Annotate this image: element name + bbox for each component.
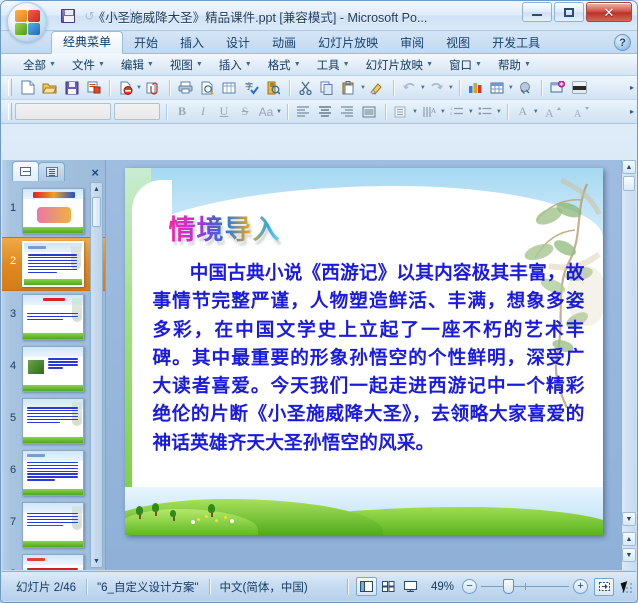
chevron-down-icon[interactable]: ▼ (508, 85, 514, 91)
bulleted-list-button[interactable] (475, 102, 496, 122)
slide-number: 2 (4, 241, 22, 267)
zoom-in-button[interactable]: + (573, 579, 588, 594)
permission-button[interactable] (115, 78, 136, 98)
close-panel-icon[interactable]: × (91, 166, 99, 179)
ribbon-tab-strip: 经典菜单 开始 插入 设计 动画 幻灯片放映 审阅 视图 开发工具 ? (1, 31, 637, 54)
help-icon[interactable]: ? (614, 34, 631, 51)
view-buttons (356, 577, 421, 596)
chevron-down-icon[interactable]: ▼ (533, 109, 539, 115)
chevron-down-icon[interactable]: ▼ (448, 85, 454, 91)
menu-slideshow[interactable]: 幻灯片放映 ▼ (358, 55, 441, 75)
slide-group (545, 78, 592, 98)
panel-scrollbar[interactable]: ▲ ▼ (90, 182, 103, 568)
close-button[interactable]: ✕ (586, 2, 632, 22)
menu-all-label: 全部 (23, 57, 46, 73)
slide-number: 1 (4, 188, 22, 214)
view-normal-button[interactable] (356, 577, 377, 596)
new-slide-button[interactable] (547, 78, 568, 98)
zoom-handle[interactable] (503, 579, 514, 594)
toolbar-divider (385, 104, 386, 120)
language-indicator[interactable]: 中文(简体，中国) (210, 579, 318, 595)
slide-counter: 幻灯片 2/46 (6, 579, 86, 595)
slide-number: 6 (4, 450, 22, 476)
zoom-track[interactable] (481, 586, 569, 587)
chevron-down-icon[interactable]: ▼ (276, 109, 282, 115)
scroll-down-button[interactable]: ▼ (622, 512, 636, 526)
numbered-list-button[interactable]: 12 (447, 102, 468, 122)
chevron-down-icon[interactable]: ▼ (440, 109, 446, 115)
tab-animation[interactable]: 动画 (261, 33, 307, 54)
chevron-down-icon: ▼ (49, 61, 56, 68)
print-preview-button[interactable] (197, 78, 218, 98)
font-color-button[interactable]: A (513, 102, 533, 121)
hyperlink-button[interactable] (515, 78, 536, 98)
open-folder-button[interactable] (39, 78, 60, 98)
zoom-slider[interactable]: − + (462, 579, 588, 594)
text-shadow-button[interactable]: S (235, 102, 255, 121)
insert-chart-button[interactable] (465, 78, 486, 98)
maximize-icon (564, 8, 574, 17)
panel-tab-strip: × (2, 160, 105, 181)
chevron-down-icon: ▼ (475, 61, 482, 68)
mouse-cursor-icon (621, 581, 631, 593)
window-controls: ✕ (522, 2, 632, 22)
standard-toolbar: ▼ 字 (1, 76, 637, 100)
chevron-down-icon: ▼ (245, 61, 252, 68)
menu-view[interactable]: 视图 ▼ (162, 55, 211, 75)
toolbar-overflow-icon[interactable]: ▸ (630, 107, 634, 116)
copy-button[interactable] (317, 78, 338, 98)
send-group: ▼ (113, 78, 166, 98)
font-name-input[interactable] (15, 103, 111, 120)
align-left-button[interactable] (293, 102, 314, 122)
outline-icon (46, 167, 58, 177)
slide-number: 7 (4, 502, 22, 528)
chevron-down-icon[interactable]: ▼ (412, 109, 418, 115)
slides-thumbnail-icon (20, 167, 31, 176)
svg-text:A: A (431, 107, 436, 115)
close-icon: ✕ (604, 6, 615, 19)
powerpoint-window: ↺ ▾ ↻ ▾ 《小圣施威降大圣》精品课件.ppt [兼容模式] - Micro… (0, 0, 638, 603)
tab-design[interactable]: 设计 (215, 33, 261, 54)
slide-thumbnail[interactable] (22, 450, 84, 496)
slide-number: 4 (4, 346, 22, 372)
menu-format[interactable]: 格式 ▼ (260, 55, 309, 75)
tab-insert[interactable]: 插入 (169, 33, 215, 54)
alignment-group (291, 102, 382, 122)
underline-button[interactable]: U (214, 102, 234, 121)
paste-button[interactable] (339, 78, 360, 98)
redo-toolbar-button[interactable] (427, 78, 448, 98)
zoom-level: 49% (429, 581, 462, 593)
scroll-down-icon[interactable]: ▼ (91, 555, 102, 567)
spacing-group: ▼ A ▼ 12 ▼ ▼ (389, 102, 504, 122)
chevron-down-icon: ▼ (343, 61, 350, 68)
next-slide-button[interactable]: ▼ (622, 548, 636, 562)
svg-text:A: A (545, 106, 554, 118)
tab-home[interactable]: 开始 (123, 33, 169, 54)
change-case-button[interactable]: Aa (256, 102, 276, 121)
menu-file[interactable]: 文件 ▼ (64, 55, 113, 75)
menu-edit[interactable]: 编辑 ▼ (113, 55, 162, 75)
italic-button[interactable]: I (193, 102, 213, 121)
slide-design-button[interactable] (569, 78, 590, 98)
slide-thumbnail[interactable] (22, 554, 84, 570)
toolbar-divider (287, 104, 288, 120)
tab-developer[interactable]: 开发工具 (481, 33, 551, 54)
tab-review[interactable]: 审阅 (389, 33, 435, 54)
format-painter-button[interactable] (367, 78, 388, 98)
scroll-up-icon[interactable]: ▲ (91, 183, 102, 195)
slides-panel: × 1 2 (2, 160, 106, 570)
print-group: 字 (173, 78, 286, 98)
menu-edit-label: 编辑 (121, 57, 144, 73)
spell-check-button[interactable]: 字 (241, 78, 262, 98)
decrease-font-size-button[interactable]: A (569, 102, 597, 122)
fit-slide-button[interactable] (594, 578, 614, 596)
character-spacing-button[interactable]: A (419, 102, 440, 122)
toolbar-grip[interactable] (8, 79, 12, 96)
slide-thumbnail[interactable] (22, 346, 84, 392)
chevron-down-icon: ▼ (98, 61, 105, 68)
previous-slide-button[interactable]: ▲ (622, 532, 636, 546)
menu-insert-label: 插入 (219, 57, 242, 73)
menu-view-label: 视图 (170, 57, 193, 73)
chevron-down-icon: ▼ (426, 61, 433, 68)
chevron-down-icon: ▼ (294, 61, 301, 68)
toolbar-divider (289, 80, 290, 96)
align-right-button[interactable] (337, 102, 358, 122)
current-slide[interactable]: 情境导入 情境导入 中国古典小说《西游记》以其内容极其丰富，故事情节完整严谨，人… (125, 168, 603, 535)
vertical-scrollbar[interactable]: ▲ ▼ ▲ ▼ (621, 160, 636, 570)
tab-slideshow[interactable]: 幻灯片放映 (307, 33, 389, 54)
toolbar-divider (507, 104, 508, 120)
slide-title[interactable]: 情境导入 (169, 208, 281, 247)
file-group (15, 78, 106, 98)
toolbar-divider (166, 104, 167, 120)
increase-font-size-button[interactable]: A (540, 102, 568, 122)
undo-toolbar-button[interactable] (399, 78, 420, 98)
menu-slideshow-label: 幻灯片放映 (366, 57, 424, 73)
insert-group: ▼ (463, 78, 538, 98)
classic-menu-bar: 全部 ▼ 文件 ▼ 编辑 ▼ 视图 ▼ 插入 ▼ 格式 ▼ 工具 ▼ 幻灯片放映 (1, 54, 637, 76)
toolbar-divider (393, 80, 394, 96)
tab-view[interactable]: 视图 (435, 33, 481, 54)
slide-thumbnail[interactable] (22, 188, 84, 234)
slide-thumbnail[interactable] (22, 398, 84, 444)
chevron-down-icon[interactable]: ▼ (360, 85, 366, 91)
slide-thumbnail[interactable] (22, 241, 84, 287)
status-divider (347, 579, 348, 595)
align-center-button[interactable] (315, 102, 336, 122)
save-toolbar-button[interactable] (61, 78, 82, 98)
menu-window[interactable]: 窗口 ▼ (441, 55, 490, 75)
zoom-out-button[interactable]: − (462, 579, 477, 594)
status-bar: 幻灯片 2/46 "6_自定义设计方案" 中文(简体，中国) 49% − (2, 571, 636, 601)
research-button[interactable] (263, 78, 284, 98)
toolbar-divider (169, 80, 170, 96)
toolbar-divider (541, 80, 542, 96)
chevron-down-icon: ▼ (524, 61, 531, 68)
slide-thumbnail[interactable] (22, 502, 84, 548)
insert-table-button[interactable] (487, 78, 508, 98)
zoom-center-tick (525, 583, 526, 590)
minimize-icon (532, 14, 542, 16)
font-size-group: A ▼ A A (511, 102, 599, 122)
cut-button[interactable] (295, 78, 316, 98)
chevron-down-icon[interactable]: ▼ (496, 109, 502, 115)
slide-thumbnail[interactable] (22, 294, 84, 340)
workspace: × 1 2 (2, 160, 636, 570)
clipboard-group: ▼ (293, 78, 390, 98)
scroll-up-button[interactable]: ▲ (622, 160, 636, 174)
tab-classic-menu[interactable]: 经典菜单 (51, 31, 123, 54)
view-slideshow-button[interactable] (400, 577, 421, 596)
office-button[interactable] (7, 2, 47, 42)
tab-outline[interactable] (38, 162, 65, 181)
office-logo-icon (15, 10, 40, 35)
slide-body-text[interactable]: 中国古典小说《西游记》以其内容极其丰富，故事情节完整严谨，人物塑造鲜活、丰满，想… (153, 260, 585, 458)
menu-tools[interactable]: 工具 ▼ (309, 55, 358, 75)
menu-window-label: 窗口 (449, 57, 472, 73)
formatting-toolbar: B I U S Aa ▼ ▼ (1, 100, 637, 124)
resize-grip[interactable] (620, 581, 632, 593)
menu-help[interactable]: 帮助 ▼ (490, 55, 539, 75)
slide-number: 5 (4, 398, 22, 424)
chevron-down-icon[interactable]: ▼ (136, 85, 142, 91)
chevron-down-icon: ▼ (196, 61, 203, 68)
new-document-button[interactable] (17, 78, 38, 98)
bold-button[interactable]: B (172, 102, 192, 121)
toolbar-overflow-icon[interactable]: ▸ (630, 83, 634, 92)
menu-help-label: 帮助 (498, 57, 521, 73)
svg-text:A: A (574, 109, 582, 118)
menu-file-label: 文件 (72, 57, 95, 73)
menu-all[interactable]: 全部 ▼ (15, 55, 64, 75)
minimize-button[interactable] (522, 2, 552, 22)
table-button[interactable] (219, 78, 240, 98)
font-size-input[interactable] (114, 103, 160, 120)
maximize-button[interactable] (554, 2, 584, 22)
menu-tools-label: 工具 (317, 57, 340, 73)
font-style-group: B I U S Aa ▼ (170, 102, 284, 121)
justify-button[interactable] (359, 102, 380, 122)
print-button[interactable] (175, 78, 196, 98)
line-spacing-button[interactable] (391, 102, 412, 122)
chevron-down-icon: ▼ (147, 61, 154, 68)
svg-text:2: 2 (450, 111, 453, 116)
undo-redo-group: ▼ ▼ (397, 78, 456, 98)
menu-insert[interactable]: 插入 ▼ (211, 55, 260, 75)
toolbar-divider (109, 80, 110, 96)
chevron-down-icon[interactable]: ▼ (420, 85, 426, 91)
design-name[interactable]: "6_自定义设计方案" (87, 579, 208, 595)
slide-stage[interactable]: 情境导入 情境导入 中国古典小说《西游记》以其内容极其丰富，故事情节完整严谨，人… (106, 160, 621, 570)
attach-button[interactable] (143, 78, 164, 98)
toolbar-divider (459, 80, 460, 96)
email-button[interactable] (83, 78, 104, 98)
chevron-down-icon[interactable]: ▼ (468, 109, 474, 115)
window-title: 《小圣施威降大圣》精品课件.ppt [兼容模式] - Microsoft Po.… (1, 7, 519, 26)
title-bar: ↺ ▾ ↻ ▾ 《小圣施威降大圣》精品课件.ppt [兼容模式] - Micro… (1, 1, 637, 31)
view-slide-sorter-button[interactable] (378, 577, 399, 596)
slide-number: 3 (4, 294, 22, 320)
toolbar-grip[interactable] (8, 103, 12, 120)
menu-format-label: 格式 (268, 57, 291, 73)
scrollbar-thumb[interactable] (92, 197, 101, 227)
scrollbar-thumb[interactable] (623, 176, 635, 191)
tab-slides[interactable] (12, 161, 39, 181)
slide-number: 8 (4, 554, 22, 570)
